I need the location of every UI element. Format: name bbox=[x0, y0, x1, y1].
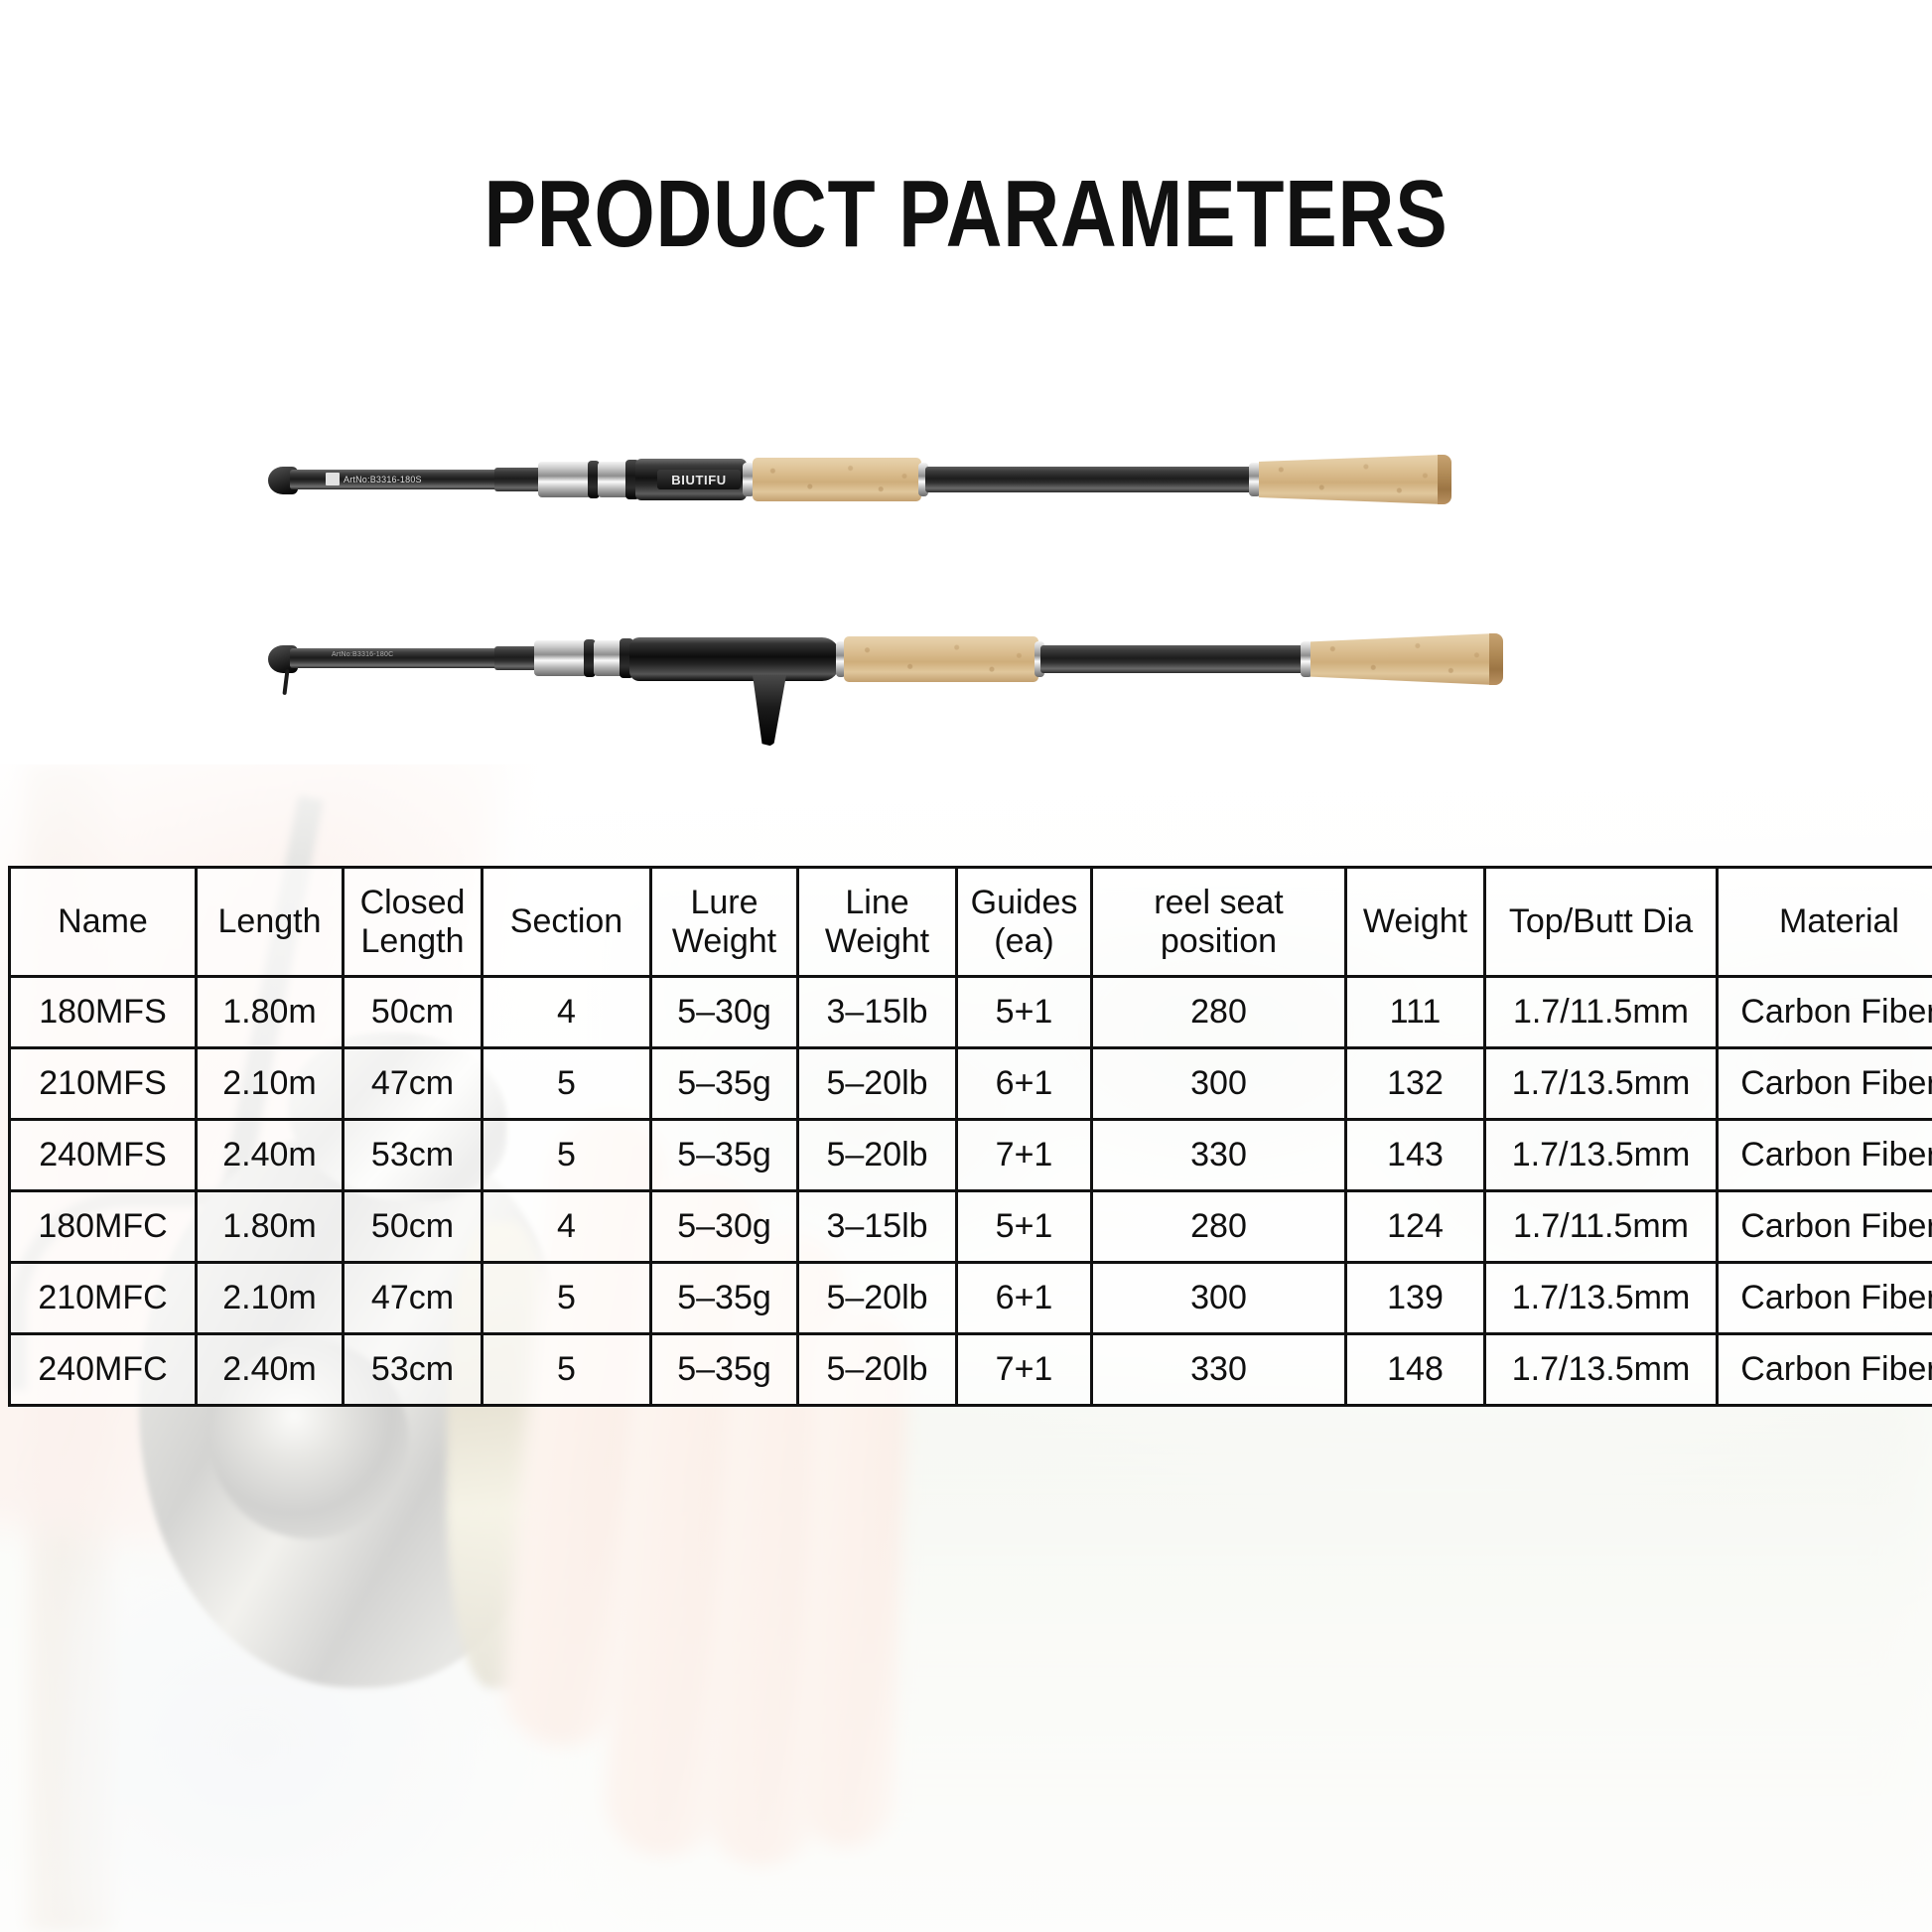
cell-dia: 1.7/11.5mm bbox=[1485, 1191, 1718, 1263]
cell-guides: 5+1 bbox=[957, 977, 1092, 1048]
cell-material: Carbon Fiber bbox=[1718, 1334, 1932, 1406]
cell-length: 2.10m bbox=[197, 1048, 344, 1120]
cell-seat-pos: 330 bbox=[1092, 1120, 1346, 1191]
cell-closed: 47cm bbox=[344, 1263, 483, 1334]
cell-dia: 1.7/13.5mm bbox=[1485, 1048, 1718, 1120]
rod-butt-cap bbox=[1438, 455, 1451, 504]
rod-casting-reel-seat bbox=[629, 637, 840, 681]
column-header-name: Name bbox=[10, 868, 197, 977]
cell-closed: 47cm bbox=[344, 1048, 483, 1120]
cell-material: Carbon Fiber bbox=[1718, 1120, 1932, 1191]
rod-artno-label: ArtNo:B3316-180S bbox=[326, 473, 422, 485]
rod-brand-logo: BIUTIFU bbox=[657, 470, 741, 489]
cell-material: Carbon Fiber bbox=[1718, 1191, 1932, 1263]
table-row: 240MFC 2.40m 53cm 5 5–35g 5–20lb 7+1 330… bbox=[10, 1334, 1932, 1406]
rod-tip-section bbox=[290, 648, 498, 668]
cell-lure: 5–35g bbox=[651, 1263, 798, 1334]
product-parameters-table: Name Length Closed Length Section Lure W… bbox=[8, 866, 1932, 1407]
casting-rod-image: ArtNo:B3316-180C bbox=[268, 625, 1698, 755]
cell-name: 180MFS bbox=[10, 977, 197, 1048]
cell-seat-pos: 300 bbox=[1092, 1048, 1346, 1120]
cell-seat-pos: 330 bbox=[1092, 1334, 1346, 1406]
cell-lure: 5–35g bbox=[651, 1334, 798, 1406]
rod-mid-section bbox=[494, 468, 544, 491]
cell-section: 5 bbox=[483, 1048, 651, 1120]
cell-lure: 5–30g bbox=[651, 1191, 798, 1263]
cell-section: 5 bbox=[483, 1120, 651, 1191]
cell-closed: 53cm bbox=[344, 1120, 483, 1191]
table-body: 180MFS 1.80m 50cm 4 5–30g 3–15lb 5+1 280… bbox=[10, 977, 1932, 1406]
cell-section: 5 bbox=[483, 1263, 651, 1334]
cell-closed: 50cm bbox=[344, 1191, 483, 1263]
table-row: 210MFS 2.10m 47cm 5 5–35g 5–20lb 6+1 300… bbox=[10, 1048, 1932, 1120]
rod-artno-text: ArtNo:B3316-180S bbox=[344, 475, 422, 484]
cell-section: 4 bbox=[483, 977, 651, 1048]
cell-closed: 53cm bbox=[344, 1334, 483, 1406]
rod-butt-cap bbox=[1489, 633, 1503, 685]
cell-weight: 143 bbox=[1346, 1120, 1485, 1191]
column-header-guides: Guides (ea) bbox=[957, 868, 1092, 977]
cell-length: 1.80m bbox=[197, 977, 344, 1048]
cell-length: 2.40m bbox=[197, 1120, 344, 1191]
cell-seat-pos: 300 bbox=[1092, 1263, 1346, 1334]
cell-name: 240MFS bbox=[10, 1120, 197, 1191]
column-header-lure-weight: Lure Weight bbox=[651, 868, 798, 977]
rod-rear-grip-cork bbox=[1311, 633, 1495, 685]
cell-lure: 5–35g bbox=[651, 1048, 798, 1120]
page-title: PRODUCT PARAMETERS bbox=[174, 167, 1758, 262]
cell-guides: 7+1 bbox=[957, 1334, 1092, 1406]
cell-line: 5–20lb bbox=[798, 1334, 957, 1406]
column-header-length: Length bbox=[197, 868, 344, 977]
cell-length: 1.80m bbox=[197, 1191, 344, 1263]
column-header-weight: Weight bbox=[1346, 868, 1485, 977]
cell-length: 2.40m bbox=[197, 1334, 344, 1406]
rod-trigger-grip bbox=[753, 675, 786, 747]
cell-material: Carbon Fiber bbox=[1718, 1048, 1932, 1120]
cell-lure: 5–30g bbox=[651, 977, 798, 1048]
cell-dia: 1.7/11.5mm bbox=[1485, 977, 1718, 1048]
cell-line: 3–15lb bbox=[798, 1191, 957, 1263]
cell-dia: 1.7/13.5mm bbox=[1485, 1263, 1718, 1334]
cell-weight: 132 bbox=[1346, 1048, 1485, 1120]
cell-name: 210MFS bbox=[10, 1048, 197, 1120]
rod-artno-text: ArtNo:B3316-180C bbox=[332, 651, 393, 658]
cell-guides: 5+1 bbox=[957, 1191, 1092, 1263]
table-row: 180MFS 1.80m 50cm 4 5–30g 3–15lb 5+1 280… bbox=[10, 977, 1932, 1048]
rod-artno-label: ArtNo:B3316-180C bbox=[328, 651, 393, 658]
cell-guides: 7+1 bbox=[957, 1120, 1092, 1191]
column-header-section: Section bbox=[483, 868, 651, 977]
cell-line: 5–20lb bbox=[798, 1120, 957, 1191]
cell-material: Carbon Fiber bbox=[1718, 1263, 1932, 1334]
cell-guides: 6+1 bbox=[957, 1048, 1092, 1120]
rod-fore-grip-cork bbox=[753, 458, 921, 501]
cell-name: 180MFC bbox=[10, 1191, 197, 1263]
table-row: 210MFC 2.10m 47cm 5 5–35g 5–20lb 6+1 300… bbox=[10, 1263, 1932, 1334]
cell-seat-pos: 280 bbox=[1092, 977, 1346, 1048]
cell-section: 5 bbox=[483, 1334, 651, 1406]
table-row: 240MFS 2.40m 53cm 5 5–35g 5–20lb 7+1 330… bbox=[10, 1120, 1932, 1191]
cell-material: Carbon Fiber bbox=[1718, 977, 1932, 1048]
cell-weight: 148 bbox=[1346, 1334, 1485, 1406]
cell-dia: 1.7/13.5mm bbox=[1485, 1120, 1718, 1191]
rod-butt-blank bbox=[1040, 645, 1307, 673]
cell-section: 4 bbox=[483, 1191, 651, 1263]
cell-dia: 1.7/13.5mm bbox=[1485, 1334, 1718, 1406]
rod-ferrule-chrome bbox=[534, 640, 588, 676]
cell-guides: 6+1 bbox=[957, 1263, 1092, 1334]
rod-fore-grip-cork bbox=[844, 636, 1038, 682]
rod-brand-mark-icon bbox=[326, 473, 340, 485]
cell-seat-pos: 280 bbox=[1092, 1191, 1346, 1263]
cell-name: 240MFC bbox=[10, 1334, 197, 1406]
cell-lure: 5–35g bbox=[651, 1120, 798, 1191]
column-header-reel-seat-position: reel seat position bbox=[1092, 868, 1346, 977]
column-header-top-butt-dia: Top/Butt Dia bbox=[1485, 868, 1718, 977]
cell-line: 5–20lb bbox=[798, 1263, 957, 1334]
cell-line: 5–20lb bbox=[798, 1048, 957, 1120]
cell-line: 3–15lb bbox=[798, 977, 957, 1048]
table-header-row: Name Length Closed Length Section Lure W… bbox=[10, 868, 1932, 977]
cell-weight: 124 bbox=[1346, 1191, 1485, 1263]
column-header-material: Material bbox=[1718, 868, 1932, 977]
cell-weight: 111 bbox=[1346, 977, 1485, 1048]
table-header: Name Length Closed Length Section Lure W… bbox=[10, 868, 1932, 977]
column-header-line-weight: Line Weight bbox=[798, 868, 957, 977]
rod-butt-blank bbox=[925, 467, 1253, 492]
column-header-closed-length: Closed Length bbox=[344, 868, 483, 977]
rod-ferrule-chrome bbox=[538, 462, 592, 497]
cell-length: 2.10m bbox=[197, 1263, 344, 1334]
cell-weight: 139 bbox=[1346, 1263, 1485, 1334]
spinning-rod-image: ArtNo:B3316-180S BIUTIFU bbox=[268, 437, 1698, 526]
cell-closed: 50cm bbox=[344, 977, 483, 1048]
rod-rear-grip-cork bbox=[1259, 455, 1444, 504]
cell-name: 210MFC bbox=[10, 1263, 197, 1334]
table-row: 180MFC 1.80m 50cm 4 5–30g 3–15lb 5+1 280… bbox=[10, 1191, 1932, 1263]
